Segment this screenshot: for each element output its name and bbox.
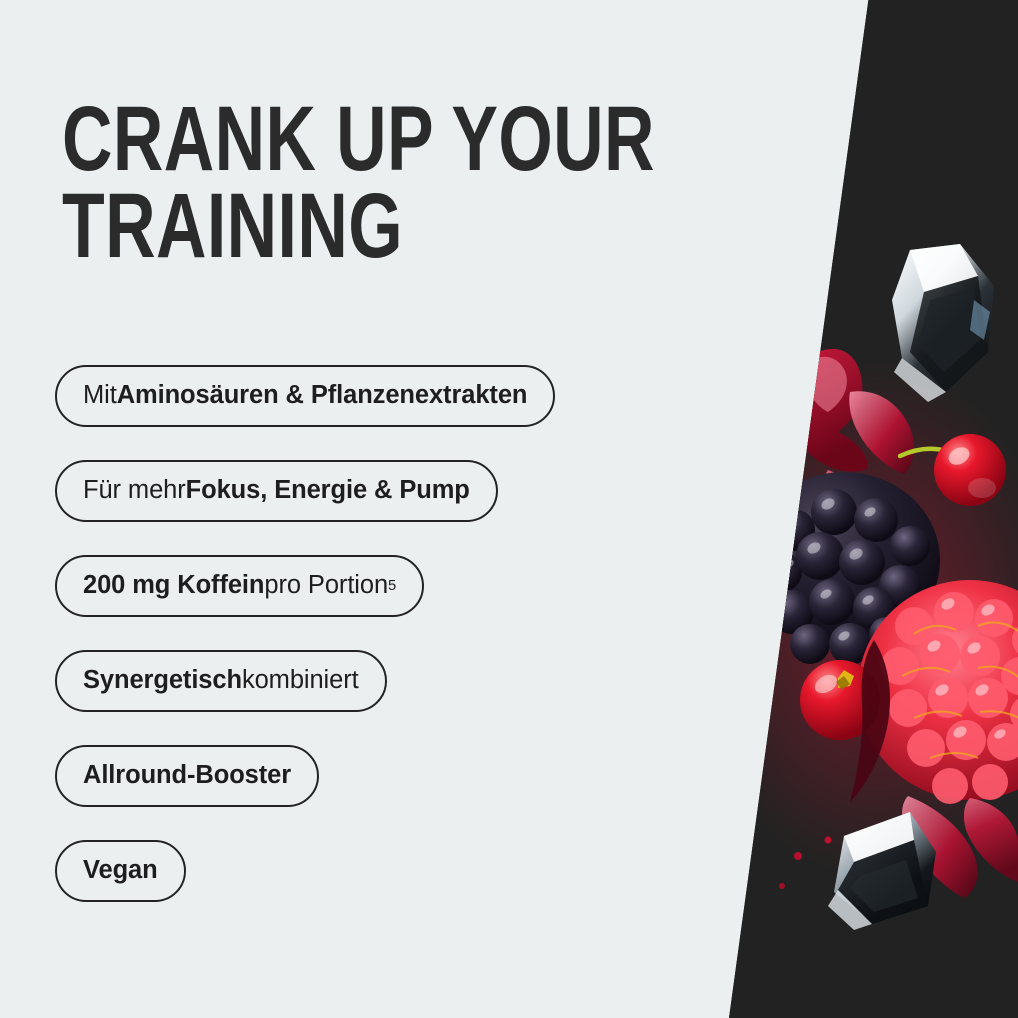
headline-line-1: CRANK UP YOUR [62,96,594,183]
feature-text-regular: Für mehr [83,478,186,504]
feature-text-bold: Synergetisch [83,668,242,694]
feature-pill-fokus: Für mehr Fokus, Energie & Pump [55,460,498,522]
feature-text-bold: Fokus, Energie & Pump [186,478,470,504]
page-title: CRANK UP YOUR TRAINING [62,96,762,271]
feature-text-regular: Mit [83,383,117,409]
feature-list: Mit Aminosäuren & PflanzenextraktenFür m… [55,365,555,902]
feature-text-regular: pro Portion [264,573,388,599]
feature-text-bold: 200 mg Koffein [83,573,264,599]
feature-text-regular: kombiniert [242,668,359,694]
feature-text-bold: Vegan [83,858,158,884]
headline-line-2: TRAINING [62,183,594,270]
feature-pill-allround: Allround-Booster [55,745,319,807]
feature-text-bold: Allround-Booster [83,763,291,789]
promo-banner: CRANK UP YOUR TRAINING Mit Aminosäuren &… [0,0,1018,1018]
feature-text-bold: Aminosäuren & Pflanzenextrakten [117,383,528,409]
feature-pill-synergetisch: Synergetisch kombiniert [55,650,387,712]
feature-pill-amino: Mit Aminosäuren & Pflanzenextrakten [55,365,555,427]
feature-pill-koffein: 200 mg Koffein pro Portion5 [55,555,424,617]
feature-pill-vegan: Vegan [55,840,186,902]
footnote-marker: 5 [388,579,396,594]
